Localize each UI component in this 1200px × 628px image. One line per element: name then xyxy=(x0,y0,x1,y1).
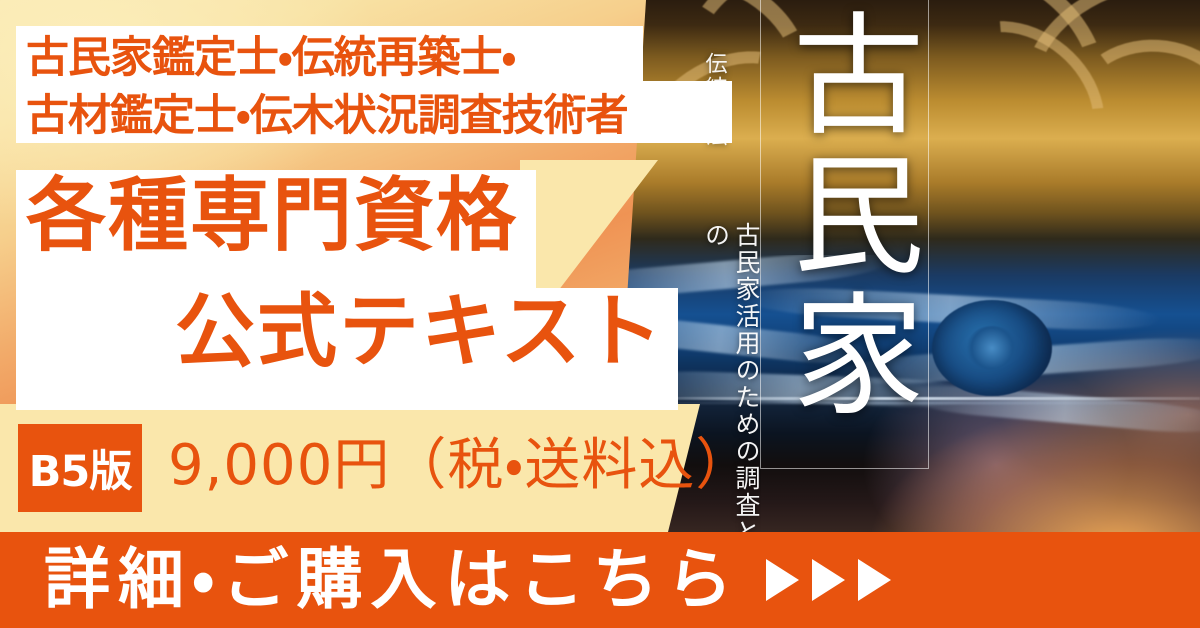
arrow-right-icon xyxy=(858,559,891,601)
headline-line-1-text: 古民家鑑定士・伝統再築士・ xyxy=(26,23,515,85)
price-text: 9,000円（税・送料込） xyxy=(168,430,752,503)
title-line-2-text: 公式テキスト xyxy=(175,292,665,372)
cta-arrow-group xyxy=(766,559,891,601)
family-crest-ornament xyxy=(932,300,1052,396)
title-line-1-text: 各種専門資格 xyxy=(26,176,518,256)
cta-label: 詳細・ご購入はこちら xyxy=(44,547,740,613)
cover-frame-rule-right xyxy=(928,0,929,468)
cta-bar[interactable]: 詳細・ご購入はこちら xyxy=(0,532,1200,628)
headline-line-2-text: 古材鑑定士・伝木状況調査技術者 xyxy=(26,81,628,143)
format-badge: B5版 xyxy=(18,424,142,512)
arrow-right-icon xyxy=(812,559,845,601)
cover-frame-rule-bottom xyxy=(760,468,929,469)
headline-line-2-box: 古材鑑定士・伝木状況調査技術者 xyxy=(16,81,732,143)
arrow-right-icon xyxy=(766,559,799,601)
cover-vertical-title: 古民家 xyxy=(770,6,920,426)
promo-banner: 古民家 伝統構法 古民家活用のための調査と再生の 古民家鑑定士・伝統再築士・ 古… xyxy=(0,0,1200,628)
headline-line-1-box: 古民家鑑定士・伝統再築士・ xyxy=(16,26,643,81)
